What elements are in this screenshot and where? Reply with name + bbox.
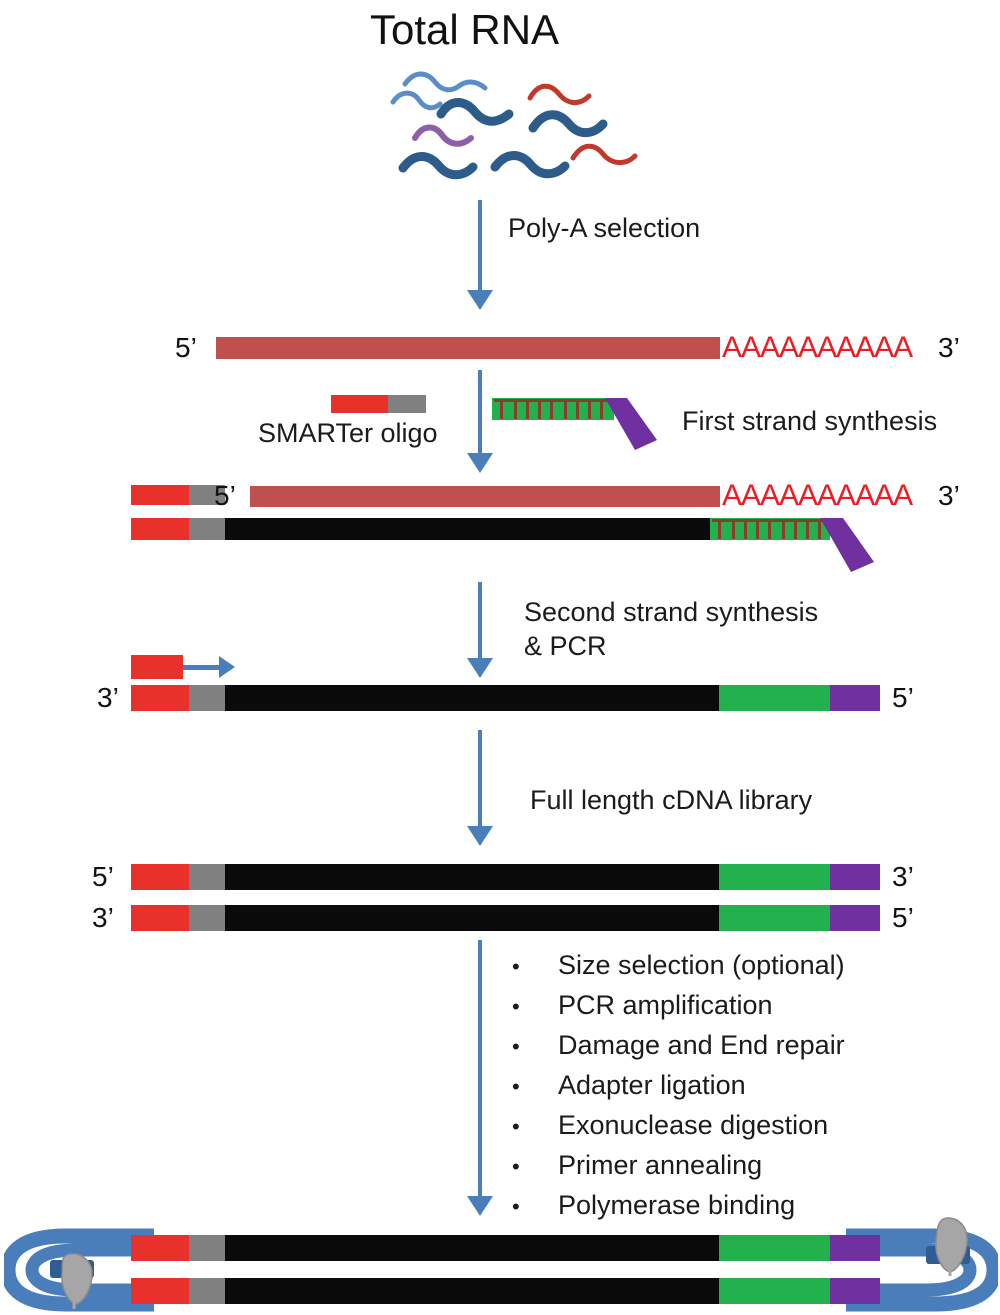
flow-arrow-3-head — [467, 658, 493, 678]
oligo-dt-tick — [600, 400, 603, 419]
oligo-dt-tick — [756, 520, 759, 539]
smrtbell-bottom-insert-body — [225, 1278, 719, 1304]
oligo-dt-tick — [588, 400, 591, 419]
smrtbell-bottom-green-adapter — [719, 1278, 830, 1304]
stage3-purple-adapter — [830, 685, 880, 711]
flow-arrow-5-line — [478, 940, 482, 1198]
stage2-oligo-dt-block — [710, 518, 830, 540]
list-item: • Damage and End repair — [512, 1032, 845, 1072]
stage3-primer-arrowhead — [219, 656, 235, 678]
stage2-mrna-body — [250, 486, 720, 507]
stage2-top-three-prime-label: 3’ — [938, 480, 960, 512]
list-item-label: PCR amplification — [558, 992, 773, 1019]
oligo-dt-tick — [768, 520, 771, 539]
list-item: • Primer annealing — [512, 1152, 845, 1192]
oligo-dt-tick — [782, 520, 785, 539]
oligo-dt-tick — [514, 400, 517, 419]
stage4-bottom-insert-body — [225, 905, 719, 931]
flow-arrow-3-line — [478, 582, 482, 660]
oligo-dt-primer-block — [492, 398, 614, 420]
list-item-label: Exonuclease digestion — [558, 1112, 828, 1139]
list-item: • Size selection (optional) — [512, 952, 845, 992]
bullet-icon: • — [512, 996, 558, 1018]
stage4-bottom-red-adapter — [131, 905, 189, 931]
oligo-dt-tick — [576, 400, 579, 419]
oligo-dt-tick — [564, 400, 567, 419]
oligo-dt-tick — [744, 520, 747, 539]
list-item: • Exonuclease digestion — [512, 1112, 845, 1152]
bullet-icon: • — [512, 1036, 558, 1058]
oligo-dt-purple-tail — [605, 396, 665, 452]
stage4-top-purple-adapter — [830, 864, 880, 890]
oligo-dt-top-rail — [494, 399, 612, 402]
stage1-mrna-body — [216, 337, 720, 359]
stage1-three-prime-label: 3’ — [938, 332, 960, 364]
stage2-top-red-adapter — [131, 485, 189, 505]
oligo-dt-tick — [500, 400, 503, 419]
bullet-icon: • — [512, 1076, 558, 1098]
smarter-oligo-gray-segment — [388, 395, 426, 413]
list-item-label: Primer annealing — [558, 1152, 762, 1179]
bullet-icon: • — [512, 1196, 558, 1218]
right-polymerase-icon — [920, 1216, 978, 1276]
stage4-top-green-adapter — [719, 864, 830, 890]
stage4-bottom-gray-adapter — [189, 905, 225, 931]
stage2-top-five-prime-label: 5’ — [214, 480, 236, 512]
stage3-right-five-prime-label: 5’ — [892, 682, 914, 714]
list-item-label: Polymerase binding — [558, 1192, 795, 1219]
stage1-five-prime-label: 5’ — [175, 332, 197, 364]
list-item-label: Damage and End repair — [558, 1032, 845, 1059]
bullet-icon: • — [512, 1116, 558, 1138]
bullet-icon: • — [512, 956, 558, 978]
stage4-top-gray-adapter — [189, 864, 225, 890]
oligo-dt-tick — [732, 520, 735, 539]
smrtbell-top-gray-adapter — [189, 1235, 225, 1261]
oligo-dt-tick — [538, 400, 541, 419]
smrtbell-bottom-purple-adapter — [830, 1278, 880, 1304]
stage4-top-five-prime-label: 5’ — [92, 861, 114, 893]
stage4-top-red-adapter — [131, 864, 189, 890]
step-label-full-length-cdna: Full length cDNA library — [530, 785, 812, 817]
flow-arrow-4-line — [478, 730, 482, 828]
smrtbell-top-green-adapter — [719, 1235, 830, 1261]
oligo-dt-tick — [718, 520, 721, 539]
step-label-first-strand-synthesis: First strand synthesis — [682, 406, 937, 438]
smrtbell-top-insert-body — [225, 1235, 719, 1261]
stage4-bottom-five-prime-label: 5’ — [892, 902, 914, 934]
stage2-polya-tail: AAAAAAAAAA — [722, 479, 912, 513]
diagram-canvas: Total RNA Poly-A selection 5’ AAAAAAAA — [0, 0, 1000, 1315]
smrtbell-top-purple-adapter — [830, 1235, 880, 1261]
list-item-label: Size selection (optional) — [558, 952, 845, 979]
stage3-insert-body — [225, 685, 719, 711]
step-label-poly-a-selection: Poly-A selection — [508, 213, 700, 245]
oligo-dt-tick — [806, 520, 809, 539]
stage2-bottom-gray-adapter — [189, 518, 225, 540]
flow-arrow-1-head — [467, 290, 493, 310]
total-rna-squiggle-pool — [385, 62, 665, 187]
stage3-green-adapter — [719, 685, 830, 711]
stage3-red-adapter — [131, 685, 189, 711]
list-item: • Adapter ligation — [512, 1072, 845, 1112]
oligo-dt-tick — [526, 400, 529, 419]
list-item: • PCR amplification — [512, 992, 845, 1032]
step-label-second-strand-synthesis-line1: Second strand synthesis — [524, 597, 818, 629]
stage4-bottom-three-prime-label: 3’ — [92, 902, 114, 934]
stage3-gray-adapter — [189, 685, 225, 711]
smrtbell-bottom-red-adapter — [131, 1278, 189, 1304]
flow-arrow-2-head — [467, 453, 493, 473]
flow-arrow-5-head — [467, 1196, 493, 1216]
stage4-top-insert-body — [225, 864, 719, 890]
flow-arrow-1-line — [478, 200, 482, 292]
page-title: Total RNA — [370, 6, 559, 54]
stage2-purple-tail — [820, 516, 882, 574]
stage1-polya-tail: AAAAAAAAAA — [722, 331, 912, 365]
flow-arrow-4-head — [467, 826, 493, 846]
stage4-top-three-prime-label: 3’ — [892, 861, 914, 893]
library-prep-step-list: • Size selection (optional) • PCR amplif… — [512, 952, 845, 1232]
stage3-primer-red-block — [131, 655, 183, 679]
smrtbell-bottom-gray-adapter — [189, 1278, 225, 1304]
left-polymerase-icon — [48, 1250, 106, 1310]
list-item: • Polymerase binding — [512, 1192, 845, 1232]
stage3-left-three-prime-label: 3’ — [97, 682, 119, 714]
bullet-icon: • — [512, 1156, 558, 1178]
smarter-oligo-label: SMARTer oligo — [258, 418, 438, 449]
smarter-oligo-red-segment — [331, 395, 388, 413]
stage3-primer-extension-arrow — [183, 665, 219, 670]
step-label-second-strand-synthesis-line2: & PCR — [524, 631, 607, 663]
stage4-bottom-purple-adapter — [830, 905, 880, 931]
smrtbell-top-red-adapter — [131, 1235, 189, 1261]
stage2-bottom-red-adapter — [131, 518, 189, 540]
oligo-dt-tick — [794, 520, 797, 539]
oligo-dt-tick — [550, 400, 553, 419]
stage4-bottom-green-adapter — [719, 905, 830, 931]
list-item-label: Adapter ligation — [558, 1072, 746, 1099]
stage2-cdna-body — [225, 518, 710, 540]
flow-arrow-2-line — [478, 370, 482, 455]
